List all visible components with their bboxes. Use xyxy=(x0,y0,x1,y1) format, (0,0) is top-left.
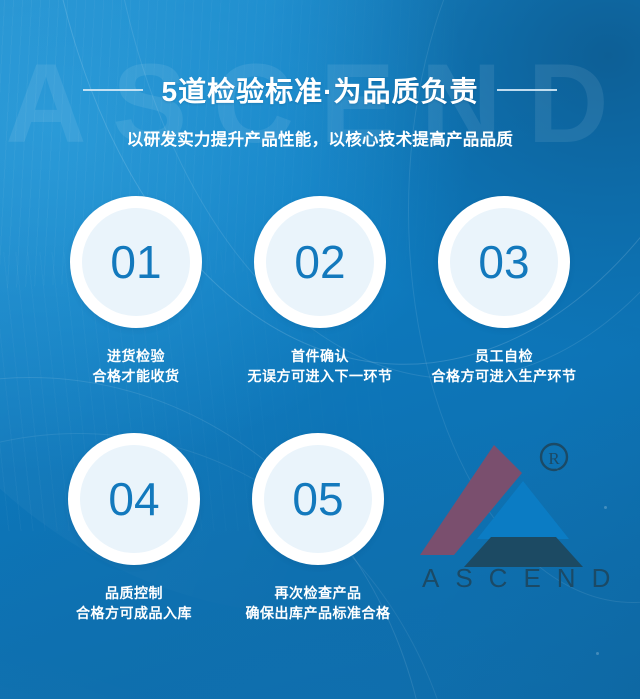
step-desc-02: 无误方可进入下一环节 xyxy=(248,366,393,386)
rule-right-icon xyxy=(497,89,557,91)
header: 5道检验标准·为品质负责 以研发实力提升产品性能，以核心技术提高产品品质 xyxy=(0,70,640,150)
step-labels-01: 进货检验 合格才能收货 xyxy=(93,346,180,387)
step-desc-03: 合格方可进入生产环节 xyxy=(432,366,577,386)
ascend-mark-icon: R xyxy=(416,437,628,567)
step-number-03: 03 xyxy=(478,239,529,285)
step-circle-02: 02 xyxy=(254,196,386,328)
step-item-04: 04 品质控制 合格方可成品入库 xyxy=(68,433,200,624)
logo-wordmark: ASCEND xyxy=(422,563,628,594)
step-title-03: 员工自检 xyxy=(432,346,577,366)
step-item-02: 02 首件确认 无误方可进入下一环节 xyxy=(254,196,386,387)
step-title-05: 再次检查产品 xyxy=(246,583,391,603)
step-circle-01: 01 xyxy=(70,196,202,328)
step-desc-04: 合格方可成品入库 xyxy=(76,603,192,623)
step-item-01: 01 进货检验 合格才能收货 xyxy=(70,196,202,387)
step-desc-01: 合格才能收货 xyxy=(93,366,180,386)
step-number-02: 02 xyxy=(294,239,345,285)
registered-mark-letter: R xyxy=(548,449,560,468)
step-number-04: 04 xyxy=(108,476,159,522)
steps-row-top: 01 进货检验 合格才能收货 02 首件确认 无误方可进入下一环节 03 xyxy=(0,196,640,387)
promo-banner: ASCEND 5道检验标准·为品质负责 以研发实力提升产品性能，以核心技术提高产… xyxy=(0,0,640,699)
step-title-04: 品质控制 xyxy=(76,583,192,603)
step-circle-03: 03 xyxy=(438,196,570,328)
rule-left-icon xyxy=(83,89,143,91)
page-subtitle: 以研发实力提升产品性能，以核心技术提高产品品质 xyxy=(0,126,640,150)
step-circle-04: 04 xyxy=(68,433,200,565)
step-number-01: 01 xyxy=(110,239,161,285)
step-labels-04: 品质控制 合格方可成品入库 xyxy=(76,583,192,624)
background-dot-3 xyxy=(596,652,599,655)
step-circle-05: 05 xyxy=(252,433,384,565)
step-labels-03: 员工自检 合格方可进入生产环节 xyxy=(432,346,577,387)
step-title-02: 首件确认 xyxy=(248,346,393,366)
step-desc-05: 确保出库产品标准合格 xyxy=(246,603,391,623)
step-item-03: 03 员工自检 合格方可进入生产环节 xyxy=(438,196,570,387)
page-title: 5道检验标准·为品质负责 xyxy=(162,70,479,110)
step-title-01: 进货检验 xyxy=(93,346,180,366)
title-row: 5道检验标准·为品质负责 xyxy=(0,70,640,110)
step-number-05: 05 xyxy=(292,476,343,522)
brand-logo: R ASCEND xyxy=(416,437,628,602)
step-item-05: 05 再次检查产品 确保出库产品标准合格 xyxy=(252,433,384,624)
step-labels-05: 再次检查产品 确保出库产品标准合格 xyxy=(246,583,391,624)
step-labels-02: 首件确认 无误方可进入下一环节 xyxy=(248,346,393,387)
